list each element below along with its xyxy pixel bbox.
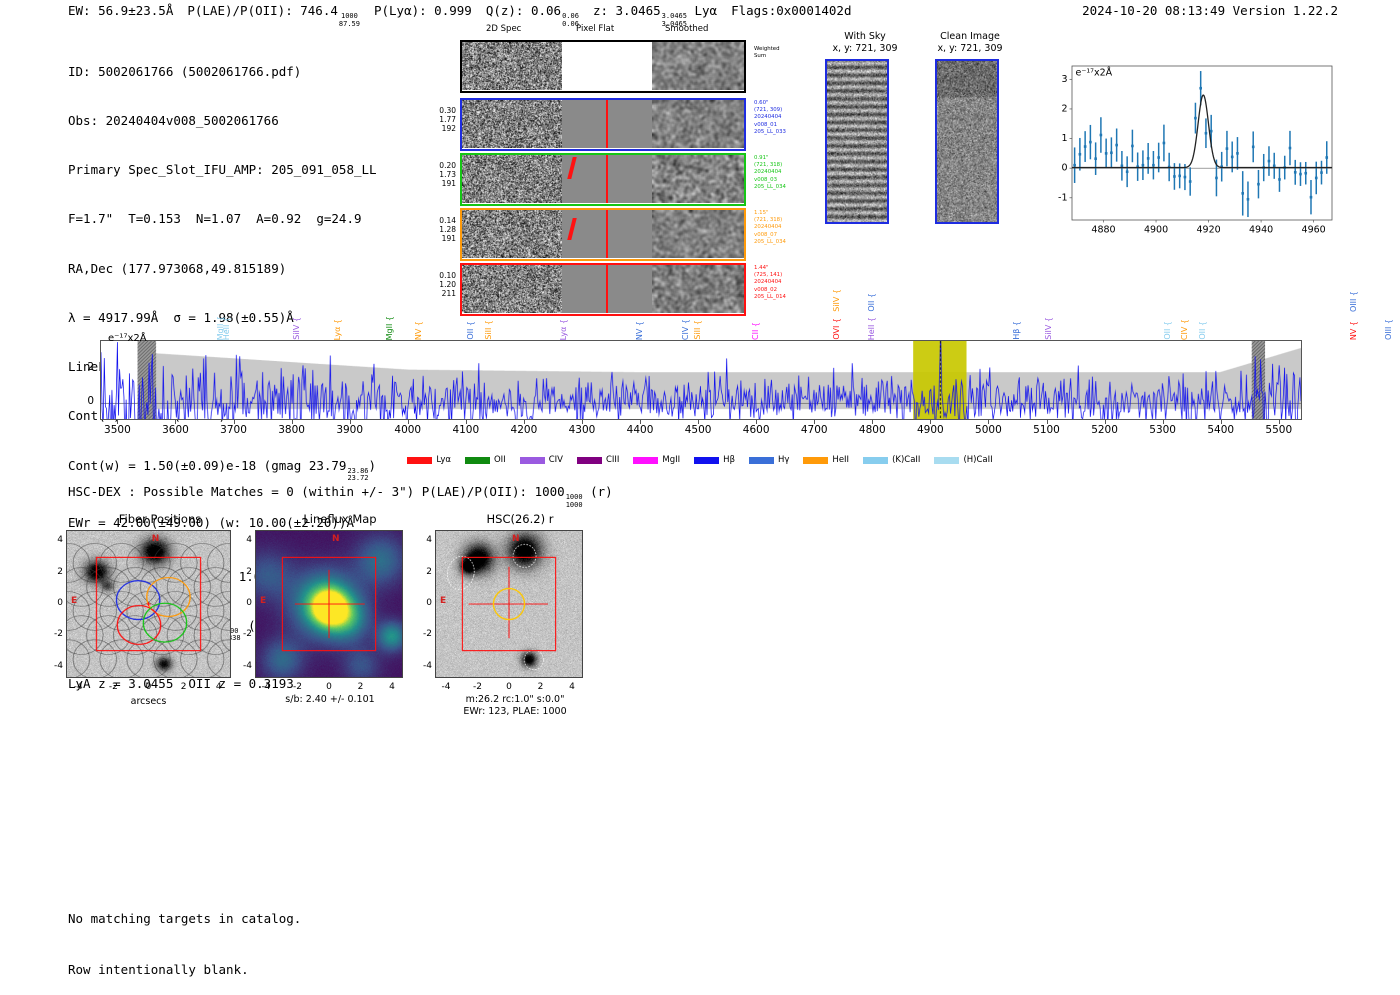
- spectrum-xtick-mark: [698, 420, 699, 424]
- spectrum-xtick-mark: [930, 420, 931, 424]
- spectrum-xtick: 3800: [278, 424, 305, 436]
- plya-value: P(Lyα): 0.999: [374, 3, 472, 18]
- fiber-pixel-flat: [562, 155, 652, 203]
- fiber-positions-xlabel: arcsecs: [66, 696, 231, 708]
- with-sky-subtitle: x, y: 721, 309: [810, 43, 920, 55]
- panel-ytick: 4: [236, 535, 252, 545]
- legend-label: CIV: [549, 455, 563, 465]
- spectrum-xtick-mark: [1221, 420, 1222, 424]
- spectrum-xtick-mark: [872, 420, 873, 424]
- spectrum-xtick-mark: [524, 420, 525, 424]
- panel-ytick: 0: [47, 598, 63, 608]
- panel-ytick: -2: [236, 629, 252, 639]
- legend-label: (H)CaII: [963, 455, 992, 465]
- hsc-dex-summary: HSC-DEX : Possible Matches = 0 (within +…: [68, 484, 613, 509]
- fiber-strip-info: 1.15" (721, 318) 20240404 v008_07 205_LL…: [754, 210, 786, 246]
- compass-east: E: [71, 596, 77, 606]
- column-header-pixelflat: Pixel Flat: [576, 24, 614, 34]
- full-spectrum-canvas: [101, 341, 1301, 419]
- info-primary-spec: Primary Spec_Slot_IFU_AMP: 205_091_058_L…: [68, 162, 377, 178]
- clean-image-title: Clean Image: [920, 31, 1020, 43]
- panel-xtick: -4: [438, 682, 454, 692]
- spectrum-xtick-mark: [234, 420, 235, 424]
- legend-swatch: [465, 457, 490, 464]
- weighted-sum-strip: Weighted Sum: [460, 40, 746, 93]
- weighted-sum-label: Weighted Sum: [754, 46, 780, 60]
- emission-line-label: OVI {: [833, 318, 841, 340]
- spectrum-xtick-mark: [292, 420, 293, 424]
- spectrum-xtick: 4800: [859, 424, 886, 436]
- emission-line-label: SiIV {: [833, 289, 841, 312]
- hsc-image-title: HSC(26.2) r: [425, 512, 615, 526]
- panel-ytick: 2: [236, 567, 252, 577]
- spectrum-xtick-mark: [408, 420, 409, 424]
- compass-north: N: [152, 534, 160, 544]
- compass-north: N: [332, 534, 340, 544]
- fiber-pixel-flat: [562, 100, 652, 148]
- spectrum-xtick-mark: [640, 420, 641, 424]
- hsc-image-image: [435, 530, 583, 678]
- redshift-type: Lyα: [695, 3, 718, 18]
- header-plae-poii-value: 746.4: [300, 3, 338, 18]
- emission-line-label: NV {: [1350, 321, 1358, 340]
- emission-line-label: Hβ {: [1013, 321, 1021, 340]
- defect-marker: [567, 157, 576, 179]
- hsc-caption-line: m:26.2 rc:1.0" s:0.0": [425, 694, 605, 706]
- column-header-smoothed: Smoothed: [665, 24, 708, 34]
- spectrum-ytick: 0: [78, 395, 94, 407]
- emission-line-label: CIV {: [1181, 319, 1189, 340]
- fiber-strip: 0.201.731910.91" (721, 318) 20240404 v00…: [460, 153, 746, 206]
- legend-item: HeII: [803, 455, 849, 465]
- fiber-smoothed: [652, 155, 744, 203]
- spectrum-xtick: 5000: [975, 424, 1002, 436]
- emission-line-label: OIII {: [1385, 319, 1393, 340]
- panel-xtick: 0: [501, 682, 517, 692]
- emission-line-label: OII {: [1164, 321, 1172, 340]
- wavelength-marker-line: [606, 155, 608, 203]
- legend-label: MgII: [662, 455, 680, 465]
- emission-line-label: NV {: [415, 321, 423, 340]
- fiber-2d-spec: [462, 155, 562, 203]
- legend-item: CIV: [520, 455, 563, 465]
- emission-line-label: HeII {: [223, 317, 231, 340]
- spectrum-xtick: 4300: [569, 424, 596, 436]
- lineflux-map-title: Lineflux Map: [245, 512, 435, 526]
- with-sky-title: With Sky: [820, 31, 910, 43]
- panel-xtick: -2: [290, 682, 306, 692]
- fiber-strip-metrics: 0.301.77192: [426, 106, 456, 133]
- info-seeing-params: F=1.7" T=0.153 N=1.07 A=0.92 g=24.9: [68, 211, 377, 227]
- full-spectrum-plot: [100, 340, 1302, 420]
- legend-item: (H)CaII: [934, 455, 992, 465]
- spectrum-xtick: 5500: [1265, 424, 1292, 436]
- emission-line-label: MgII {: [386, 316, 394, 340]
- header-plae-poii-range: 100087.59: [339, 13, 360, 28]
- panel-xtick: -2: [470, 682, 486, 692]
- fiber-strip-info: 0.60" (721, 309) 20240404 v008_01 205_LL…: [754, 100, 786, 136]
- fiber-pixel-flat: [562, 210, 652, 258]
- emission-line-label: SiII {: [694, 320, 702, 340]
- emission-line-label: Lyα {: [334, 319, 342, 340]
- panel-xtick: 2: [176, 682, 192, 692]
- panel-xtick: 0: [321, 682, 337, 692]
- spectrum-xtick-mark: [756, 420, 757, 424]
- panel-ytick: -2: [47, 629, 63, 639]
- spectrum-legend: LyαOIICIVCIIIMgIIHβHγHeII(K)CaII(H)CaII: [0, 455, 1400, 465]
- lineflux-map-image: [255, 530, 403, 678]
- spectrum-xtick: 4100: [452, 424, 479, 436]
- legend-swatch: [407, 457, 432, 464]
- spectrum-xtick-mark: [814, 420, 815, 424]
- spectrum-xtick-mark: [175, 420, 176, 424]
- legend-label: HeII: [832, 455, 849, 465]
- flags-value: Flags:0x0001402d: [731, 3, 851, 18]
- legend-item: Hβ: [694, 455, 735, 465]
- panel-ytick: 2: [416, 567, 432, 577]
- panel-ytick: 4: [47, 535, 63, 545]
- spectrum-xtick-mark: [1279, 420, 1280, 424]
- legend-item: MgII: [633, 455, 680, 465]
- spectrum-flux-unit: e⁻¹⁷x2Å: [108, 333, 147, 344]
- footer-note: No matching targets in catalog. Row inte…: [68, 876, 301, 995]
- panel-ytick: -4: [236, 661, 252, 671]
- spectrum-xtick: 3600: [162, 424, 189, 436]
- header-summary-line: EW: 56.9±23.5ÅP(LAE)/P(OII): 746.4100087…: [68, 3, 866, 28]
- fiber-2d-spec: [462, 100, 562, 148]
- legend-label: (K)CaII: [892, 455, 920, 465]
- spectrum-line-labels: MgII {HeII {SiIV {Lyα {MgII {NV {OII {Si…: [100, 272, 1302, 340]
- legend-item: CIII: [577, 455, 619, 465]
- legend-label: Hβ: [723, 455, 735, 465]
- panel-ytick: 0: [416, 598, 432, 608]
- footer-line-2: Row intentionally blank.: [68, 961, 301, 978]
- compass-east: E: [440, 596, 446, 606]
- panel-xtick: -2: [105, 682, 121, 692]
- spectrum-xtick: 4600: [743, 424, 770, 436]
- line-profile-canvas: [1040, 57, 1340, 247]
- timestamp-version: 2024-10-20 08:13:49 Version 1.22.2: [1082, 3, 1338, 18]
- panel-ytick: -4: [416, 661, 432, 671]
- emission-line-label: SiIV {: [1045, 317, 1053, 340]
- emission-line-label: OII {: [868, 293, 876, 312]
- fiber-positions-title: Fiber Positions: [65, 512, 255, 526]
- legend-label: Lyα: [436, 455, 451, 465]
- legend-label: Hγ: [778, 455, 789, 465]
- legend-swatch: [694, 457, 719, 464]
- fiber-strip-images: [460, 98, 746, 151]
- gmag-range: 23.8623.72: [347, 468, 368, 483]
- fiber-strip-metrics: 0.141.28191: [426, 216, 456, 243]
- legend-item: Hγ: [749, 455, 789, 465]
- panel-xtick: -4: [70, 682, 86, 692]
- spectrum-xtick: 5400: [1207, 424, 1234, 436]
- legend-swatch: [803, 457, 828, 464]
- fiber-smoothed: [652, 210, 744, 258]
- panel-ytick: -4: [47, 661, 63, 671]
- spectrum-xtick: 4200: [511, 424, 538, 436]
- panel-xtick: 2: [532, 682, 548, 692]
- spectrum-xtick: 4500: [685, 424, 712, 436]
- wavelength-marker-line: [606, 210, 608, 258]
- hsc-image-caption: m:26.2 rc:1.0" s:0.0"EWr: 123, PLAE: 100…: [425, 694, 605, 718]
- compass-north: N: [512, 534, 520, 544]
- fiber-strip: 0.301.771920.60" (721, 309) 20240404 v00…: [460, 98, 746, 151]
- clean-image-image: [935, 59, 999, 224]
- legend-swatch: [520, 457, 545, 464]
- emission-line-label: OII {: [467, 321, 475, 340]
- spectrum-xtick-mark: [466, 420, 467, 424]
- spectrum-xtick: 3900: [336, 424, 363, 436]
- fiber-strip-metrics: 0.201.73191: [426, 161, 456, 188]
- emission-line-label: OII {: [1199, 321, 1207, 340]
- info-obs: Obs: 20240404v008_5002061766: [68, 113, 377, 129]
- legend-item: OII: [465, 455, 506, 465]
- spectrum-xtick: 4000: [394, 424, 421, 436]
- legend-swatch: [633, 457, 658, 464]
- fiber-strip-images: [460, 153, 746, 206]
- spectrum-xtick-mark: [1163, 420, 1164, 424]
- emission-line-label: HeII {: [868, 317, 876, 340]
- with-sky-image: [825, 59, 889, 224]
- legend-label: CIII: [606, 455, 619, 465]
- legend-label: OII: [494, 455, 506, 465]
- lineflux-map-caption: s/b: 2.40 +/- 0.101: [245, 694, 415, 706]
- footer-line-1: No matching targets in catalog.: [68, 910, 301, 927]
- panel-ytick: 4: [416, 535, 432, 545]
- spectrum-xtick: 5300: [1149, 424, 1176, 436]
- panel-xtick: 4: [564, 682, 580, 692]
- clean-image-subtitle: x, y: 721, 309: [915, 43, 1025, 55]
- panel-xtick: 2: [352, 682, 368, 692]
- legend-item: (K)CaII: [863, 455, 920, 465]
- wavelength-marker-line: [606, 100, 608, 148]
- fiber-strip-info: 0.91" (721, 318) 20240404 v008_03 205_LL…: [754, 155, 786, 191]
- emission-line-label: CII {: [752, 322, 760, 340]
- panel-xtick: -4: [258, 682, 274, 692]
- spectrum-xtick-mark: [1105, 420, 1106, 424]
- emission-line-label: CIV {: [682, 319, 690, 340]
- legend-swatch: [749, 457, 774, 464]
- panel-xtick: 0: [141, 682, 157, 692]
- hsc-caption-line: EWr: 123, PLAE: 1000: [425, 706, 605, 718]
- legend-swatch: [934, 457, 959, 464]
- hscdex-plae-range: 10001000: [566, 494, 583, 509]
- fiber-strip-images: [460, 208, 746, 261]
- spectrum-xtick: 5200: [1091, 424, 1118, 436]
- column-header-2dspec: 2D Spec: [486, 24, 521, 34]
- spectrum-xtick: 3700: [220, 424, 247, 436]
- spectrum-xtick: 4400: [627, 424, 654, 436]
- emission-line-label: SiII {: [485, 320, 493, 340]
- spectrum-xtick-mark: [988, 420, 989, 424]
- spectrum-xtick-mark: [582, 420, 583, 424]
- spectrum-ytick: 2: [78, 361, 94, 373]
- panel-ytick: 2: [47, 567, 63, 577]
- info-id: ID: 5002061766 (5002061766.pdf): [68, 64, 377, 80]
- spectrum-xtick: 4700: [801, 424, 828, 436]
- qz-value: Q(z): 0.060.060.06: [486, 3, 579, 18]
- spectrum-xtick-mark: [117, 420, 118, 424]
- emission-line-label: SiIV {: [293, 317, 301, 340]
- fiber-smoothed: [652, 100, 744, 148]
- legend-item: Lyα: [407, 455, 451, 465]
- ew-value: EW: 56.9±23.5Å: [68, 3, 173, 18]
- compass-east: E: [260, 596, 266, 606]
- panel-ytick: -2: [416, 629, 432, 639]
- header-plae-poii: P(LAE)/P(OII): 746.4100087.59: [187, 3, 360, 18]
- fiber-positions-image: [66, 530, 231, 678]
- panel-xtick: 4: [211, 682, 227, 692]
- panel-ytick: 0: [236, 598, 252, 608]
- spectrum-xtick: 3500: [104, 424, 131, 436]
- spectrum-xtick: 5100: [1033, 424, 1060, 436]
- spectrum-xtick: 4900: [917, 424, 944, 436]
- emission-line-label: Lyα {: [560, 319, 568, 340]
- fiber-2d-spec: [462, 210, 562, 258]
- panel-xtick: 4: [384, 682, 400, 692]
- spectrum-xtick-mark: [350, 420, 351, 424]
- spectrum-xtick-mark: [1047, 420, 1048, 424]
- emission-line-label: NV {: [636, 321, 644, 340]
- header-plae-poii-label: P(LAE)/P(OII):: [187, 3, 292, 18]
- emission-line-label: OIII {: [1350, 291, 1358, 312]
- legend-swatch: [577, 457, 602, 464]
- fiber-strip: 0.141.281911.15" (721, 318) 20240404 v00…: [460, 208, 746, 261]
- defect-marker: [567, 218, 576, 240]
- redshift-value: z: 3.04653.04653.0465 Lyα: [593, 3, 717, 18]
- legend-swatch: [863, 457, 888, 464]
